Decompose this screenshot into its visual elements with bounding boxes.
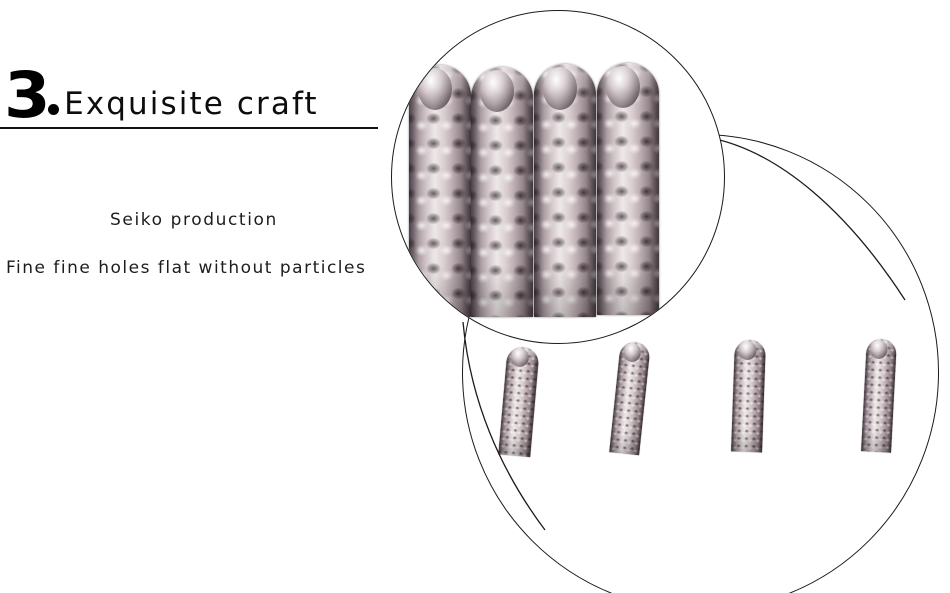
perforated-mesh-tube-magnified xyxy=(597,63,659,315)
tube-cap xyxy=(606,66,641,109)
tube-cap xyxy=(480,70,515,113)
tube-cap xyxy=(543,67,578,110)
perforated-mesh-tube-magnified xyxy=(534,64,596,317)
product-detail-banner: 3 Exquisite craft Seiko production Fine … xyxy=(0,0,950,593)
tube-cap xyxy=(418,68,453,111)
perforated-mesh-tube-magnified xyxy=(409,65,471,317)
perforated-mesh-tube-magnified xyxy=(471,67,533,317)
magnified-detail-circle xyxy=(391,10,725,344)
